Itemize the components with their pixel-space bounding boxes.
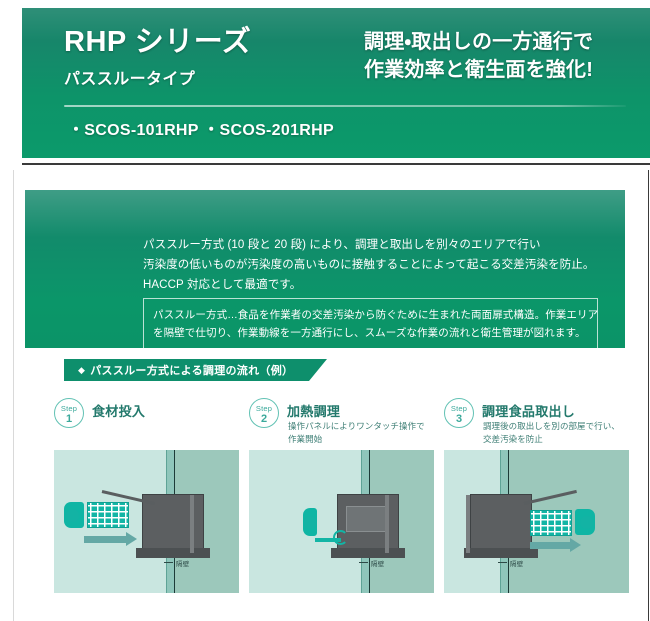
step-badge-2: Step 2 <box>249 398 279 428</box>
definition-note-box: パススルー方式…食品を作業者の交差汚染から防ぐために生まれた両面扉式構造。作業エ… <box>143 298 598 351</box>
note-line-1: パススルー方式…食品を作業者の交差汚染から防ぐために生まれた両面扉式構造。作業エ… <box>153 306 588 324</box>
description-line-2: 汚染度の低いものが汚染度の高いものに接触することによって起こる交差汚染を防止。 <box>143 256 597 276</box>
wall-label-2: 隔壁 <box>371 558 384 568</box>
step-desc-2-line-2: 作業開始 <box>288 433 425 446</box>
step-illustration-3: 隔壁 <box>444 450 629 593</box>
wall-label-tick-2 <box>359 562 368 563</box>
content-panel: パススルー方式 (10 段と 20 段) により、調理と取出しを別々のエリアで行… <box>13 170 649 621</box>
note-line-2: を隔壁で仕切り、作業動線を一方通行にし、スムーズな作業の流れと衛生管理が図れます… <box>153 324 588 342</box>
step-desc-3-line-1: 調理後の取出しを別の部屋で行い、 <box>483 420 620 433</box>
worker-head-2 <box>304 516 317 529</box>
wall-label-tick-3 <box>498 562 507 563</box>
worker-head-1 <box>66 509 79 522</box>
description-line-3: HACCP 対応として最適です。 <box>143 276 597 296</box>
oven-window-grid-2 <box>346 506 388 532</box>
section-ribbon-label: パススルー方式による調理の流れ（例） <box>90 365 293 377</box>
description-block: パススルー方式 (10 段と 20 段) により、調理と取出しを別々のエリアで行… <box>25 190 625 348</box>
step-badge-1: Step 1 <box>54 398 84 428</box>
step-desc-2: 操作パネルによりワンタッチ操作で 作業開始 <box>288 420 425 446</box>
oven-base-2 <box>331 548 405 558</box>
step-illustration-1: 隔壁 <box>54 450 239 593</box>
step-badge-number-1: 1 <box>55 414 83 425</box>
product-title: RHP シリーズ <box>64 26 364 59</box>
wall-label-1: 隔壁 <box>176 558 189 568</box>
step-badge-number-2: 2 <box>250 414 278 425</box>
workflow-steps: Step 1 食材投入 <box>52 398 632 608</box>
step-desc-3-line-2: 交差汚染を防止 <box>483 433 620 446</box>
description-lead: パススルー方式 (10 段と 20 段) により、調理と取出しを別々のエリアで行… <box>143 236 597 295</box>
step-desc-3: 調理後の取出しを別の部屋で行い、 交差汚染を防止 <box>483 420 620 446</box>
model-number-list: ・SCOS-101RHP ・SCOS-201RHP <box>68 116 334 140</box>
header-bottom-border <box>22 163 650 165</box>
step-title-2: 加熱調理 <box>287 401 340 420</box>
step-title-1: 食材投入 <box>92 401 145 420</box>
food-rack-1 <box>87 502 129 528</box>
flow-arrow-1 <box>84 536 126 543</box>
oven-door-2 <box>385 495 389 553</box>
step-header-2: Step 2 加熱調理 操作パネルによりワンタッチ操作で 作業開始 <box>247 398 437 450</box>
step-column-3: Step 3 調理食品取出し 調理後の取出しを別の部屋で行い、 交差汚染を防止 <box>442 398 632 450</box>
wall-label-tick-1 <box>164 562 173 563</box>
wall-label-3: 隔壁 <box>510 558 523 568</box>
description-line-1: パススルー方式 (10 段と 20 段) により、調理と取出しを別々のエリアで行… <box>143 236 597 256</box>
rack-tray-grid-3 <box>531 511 571 535</box>
rack-tray-grid-1 <box>88 503 128 527</box>
touch-indicator-icon-2 <box>333 530 348 545</box>
step-illustration-2: 隔壁 <box>249 450 434 593</box>
hero-left-block: RHP シリーズ パススルータイプ <box>64 26 364 89</box>
hero-banner: RHP シリーズ パススルータイプ 調理・取出しの一方通行で 作業効率と衛生面を… <box>22 8 650 158</box>
step-badge-3: Step 3 <box>444 398 474 428</box>
hero-right-block: 調理・取出しの一方通行で 作業効率と衛生面を強化! <box>364 28 650 85</box>
step-title-3: 調理食品取出し <box>482 401 575 420</box>
catch-copy-line-1: 調理・取出しの一方通行で <box>364 28 650 56</box>
step-badge-number-3: 3 <box>445 414 473 425</box>
oven-base-1 <box>136 548 210 558</box>
oven-door-1 <box>190 495 194 553</box>
flow-arrow-3 <box>530 542 570 549</box>
oven-body-3 <box>470 494 532 556</box>
section-ribbon: ◆パススルー方式による調理の流れ（例） <box>64 359 327 381</box>
oven-door-3 <box>466 495 470 553</box>
step-desc-2-line-1: 操作パネルによりワンタッチ操作で <box>288 420 425 433</box>
diamond-bullet-icon: ◆ <box>78 365 85 375</box>
catch-copy-line-2: 作業効率と衛生面を強化! <box>364 56 650 84</box>
step-column-2: Step 2 加熱調理 操作パネルによりワンタッチ操作で 作業開始 <box>247 398 437 450</box>
step-column-1: Step 1 食材投入 <box>52 398 242 450</box>
hero-divider-rule <box>64 105 626 107</box>
oven-base-3 <box>464 548 538 558</box>
food-rack-3 <box>530 510 572 536</box>
step-header-1: Step 1 食材投入 <box>52 398 242 450</box>
step-header-3: Step 3 調理食品取出し 調理後の取出しを別の部屋で行い、 交差汚染を防止 <box>442 398 632 450</box>
section-ribbon-wrap: ◆パススルー方式による調理の流れ（例） <box>64 359 327 381</box>
product-subtitle: パススルータイプ <box>64 65 364 89</box>
product-page: RHP シリーズ パススルータイプ 調理・取出しの一方通行で 作業効率と衛生面を… <box>0 0 650 621</box>
worker-head-3 <box>580 516 593 529</box>
